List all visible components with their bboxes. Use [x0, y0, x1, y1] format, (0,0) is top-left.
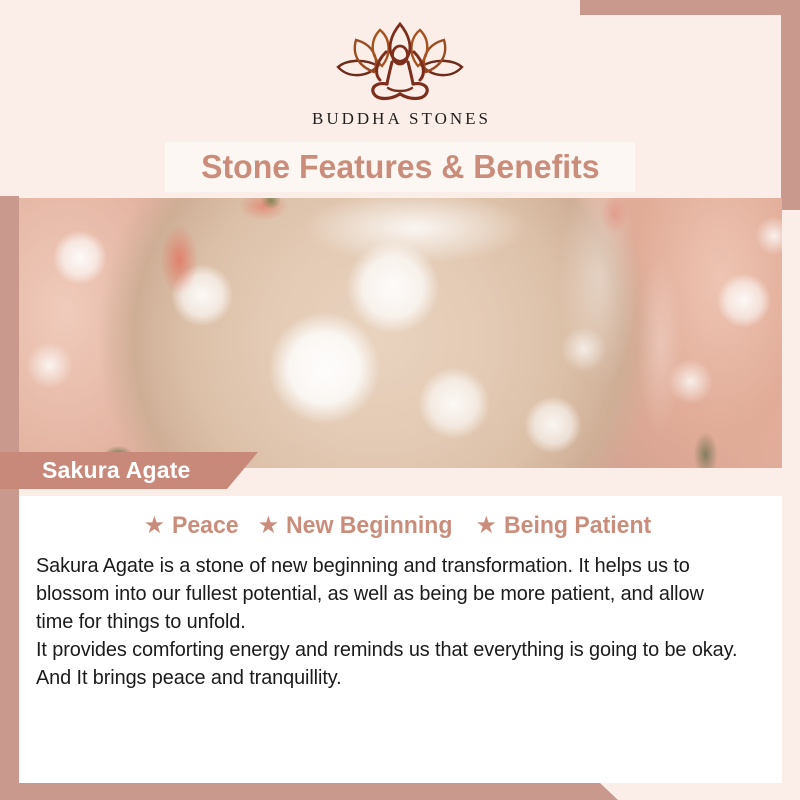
stone-name-label: Sakura Agate — [42, 457, 191, 484]
description-text: Sakura Agate is a stone of new beginning… — [19, 540, 782, 692]
benefits-list: ★ Peace ★ New Beginning ★ Being Patient — [19, 496, 782, 540]
benefit-label: Being Patient — [504, 512, 651, 540]
benefit-item-peace: ★ Peace — [144, 512, 242, 540]
page-title-bar: Stone Features & Benefits — [165, 142, 635, 192]
frame-left-bar — [0, 196, 19, 786]
page-title: Stone Features & Benefits — [201, 148, 599, 186]
brand-wordmark: BUDDHA STONES — [309, 109, 491, 129]
photo-highlight-layer — [19, 198, 782, 468]
brand-header: BUDDHA STONES — [0, 0, 800, 142]
description-paragraph-1: Sakura Agate is a stone of new beginning… — [36, 552, 744, 636]
star-icon: ★ — [144, 514, 166, 538]
star-icon: ★ — [258, 514, 280, 538]
stone-benefits-infographic: BUDDHA STONES Stone Features & Benefits … — [0, 0, 800, 800]
stone-name-banner: Sakura Agate — [0, 452, 258, 489]
star-icon: ★ — [475, 514, 497, 538]
benefit-label: Peace — [172, 512, 239, 540]
description-card: ★ Peace ★ New Beginning ★ Being Patient … — [19, 496, 782, 783]
description-paragraph-2: It provides comforting energy and remind… — [36, 636, 744, 692]
frame-bottom-bar — [0, 783, 600, 800]
benefit-item-being-patient: ★ Being Patient — [475, 512, 657, 540]
benefit-item-new-beginning: ★ New Beginning — [258, 512, 460, 540]
lotus-meditation-icon — [330, 22, 470, 102]
frame-bottom-diagonal — [578, 783, 618, 800]
hero-photo — [19, 198, 782, 468]
benefit-label: New Beginning — [286, 512, 452, 540]
